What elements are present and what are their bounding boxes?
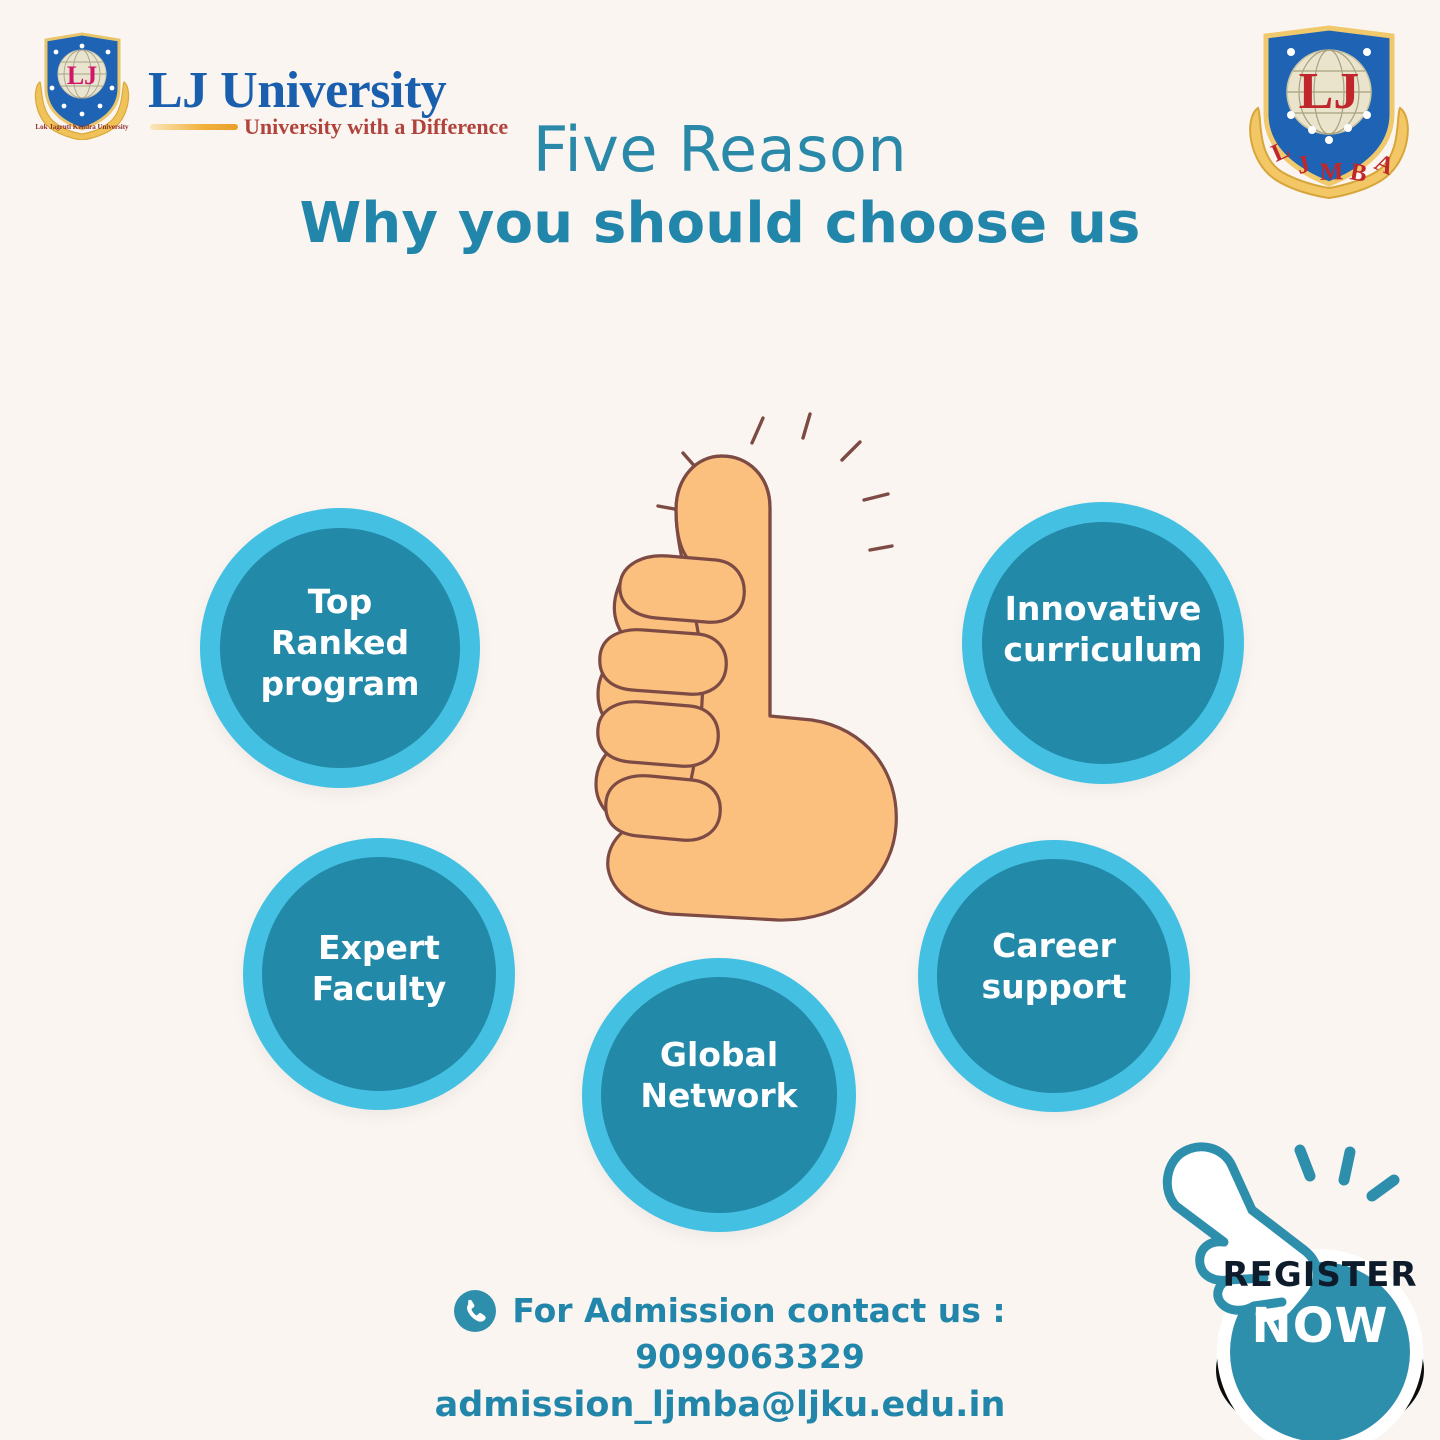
reason-label-global-network: Global Network [632, 1034, 805, 1116]
reason-bubble-career-support[interactable]: Career support [918, 840, 1190, 1112]
reason-label-career-support: Career support [973, 925, 1134, 1007]
reason-bubble-inner: Career support [937, 859, 1171, 1093]
reason-bubble-inner: Top Ranked program [220, 528, 460, 768]
reason-bubble-global-network[interactable]: Global Network [582, 958, 856, 1232]
register-now-button[interactable]: REGISTER NOW [1132, 1108, 1440, 1440]
register-now-line-1: REGISTER [1222, 1255, 1417, 1295]
reason-label-innovative: Innovative curriculum [995, 588, 1210, 670]
headline-line-2: Why you should choose us [0, 188, 1440, 260]
thumbs-up-illustration [520, 398, 920, 943]
reason-bubble-inner: Expert Faculty [262, 857, 496, 1091]
poster-canvas: LJ Lok Jagruti Kendra University LJ Univ… [0, 0, 1440, 1440]
reason-bubble-top-ranked[interactable]: Top Ranked program [200, 508, 480, 788]
register-now-line-2: NOW [1252, 1298, 1389, 1354]
reason-bubble-innovative[interactable]: Innovative curriculum [962, 502, 1244, 784]
phone-icon [454, 1290, 496, 1332]
contact-label: For Admission contact us : [512, 1288, 1005, 1334]
svg-text:LJ: LJ [67, 61, 97, 90]
lj-university-name: LJ University [148, 66, 468, 116]
reason-bubble-inner: Innovative curriculum [982, 522, 1224, 764]
reason-bubble-inner: Global Network [601, 977, 837, 1213]
reason-label-expert-faculty: Expert Faculty [304, 927, 455, 1009]
headline-line-1: Five Reason [0, 112, 1440, 188]
headline-block: Five Reason Why you should choose us [0, 112, 1440, 260]
reason-label-top-ranked: Top Ranked program [252, 581, 427, 704]
reason-bubble-expert-faculty[interactable]: Expert Faculty [243, 838, 515, 1110]
